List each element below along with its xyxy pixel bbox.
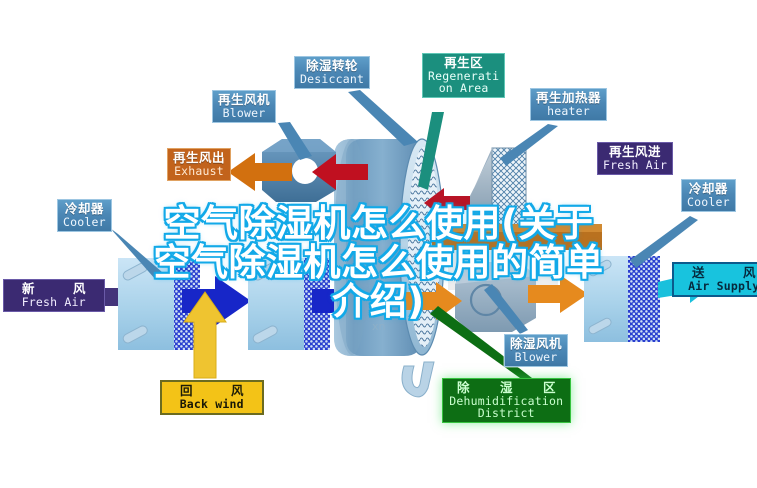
schematic-illustration: xn [0,0,757,488]
label-cooler-right-cn: 冷却器 [687,182,730,196]
label-regeneration-exhaust-cn: 再生风出 [173,151,225,165]
label-desiccant-wheel-cn: 除湿转轮 [300,59,364,73]
label-air-supply[interactable]: 送 风 Air Supply [672,262,757,297]
label-cooler-left[interactable]: 冷却器 Cooler [57,199,112,232]
label-regeneration-area-en2: on Area [428,82,499,94]
label-dehumidification-district-en2: District [448,407,565,419]
label-cooler-left-cn: 冷却器 [63,202,106,216]
label-regeneration-blower[interactable]: 再生风机 Blower [212,90,276,123]
label-regeneration-fresh-air-in[interactable]: 再生风进 Fresh Air [597,142,673,175]
label-fresh-air-in-en: Fresh Air [9,296,99,308]
dehumidifier-schematic: xn [0,0,757,488]
label-cooler-left-en: Cooler [63,216,106,228]
label-dehumidification-district-cn: 除 湿 区 [448,381,565,395]
svg-text:xn: xn [372,320,386,333]
supply-filter [584,256,660,342]
label-regeneration-blower-cn: 再生风机 [218,93,270,107]
regen-heater-body [470,148,526,226]
label-regeneration-area[interactable]: 再生区 Regenerati on Area [422,53,505,98]
label-regeneration-fresh-air-in-cn: 再生风进 [603,145,667,159]
label-regeneration-heater[interactable]: 再生加热器 heater [530,88,607,121]
condensate-drain [402,362,434,397]
label-regeneration-fresh-air-in-en: Fresh Air [603,159,667,171]
label-dehumidification-blower-en: Blower [510,351,562,363]
label-regeneration-blower-en: Blower [218,107,270,119]
label-regeneration-heater-en: heater [536,105,601,117]
label-desiccant-wheel[interactable]: 除湿转轮 Desiccant [294,56,370,89]
label-fresh-air-in-cn: 新 风 [9,282,99,296]
label-regeneration-exhaust[interactable]: 再生风出 Exhaust [167,148,231,181]
label-desiccant-wheel-en: Desiccant [300,73,364,85]
label-cooler-right[interactable]: 冷却器 Cooler [681,179,736,212]
label-regeneration-exhaust-en: Exhaust [173,165,225,177]
label-air-supply-cn: 送 风 [679,266,757,280]
label-back-wind-en: Back wind [167,398,257,410]
label-dehumidification-blower-cn: 除湿风机 [510,337,562,351]
label-back-wind[interactable]: 回 风 Back wind [160,380,264,415]
label-dehumidification-district[interactable]: 除 湿 区 Dehumidification District [442,378,571,423]
label-regeneration-area-cn: 再生区 [428,56,499,70]
label-air-supply-en: Air Supply [679,280,757,292]
label-regeneration-heater-cn: 再生加热器 [536,91,601,105]
label-fresh-air-in[interactable]: 新 风 Fresh Air [3,279,105,312]
label-back-wind-cn: 回 风 [167,384,257,398]
label-dehumidification-blower[interactable]: 除湿风机 Blower [504,334,568,367]
label-cooler-right-en: Cooler [687,196,730,208]
